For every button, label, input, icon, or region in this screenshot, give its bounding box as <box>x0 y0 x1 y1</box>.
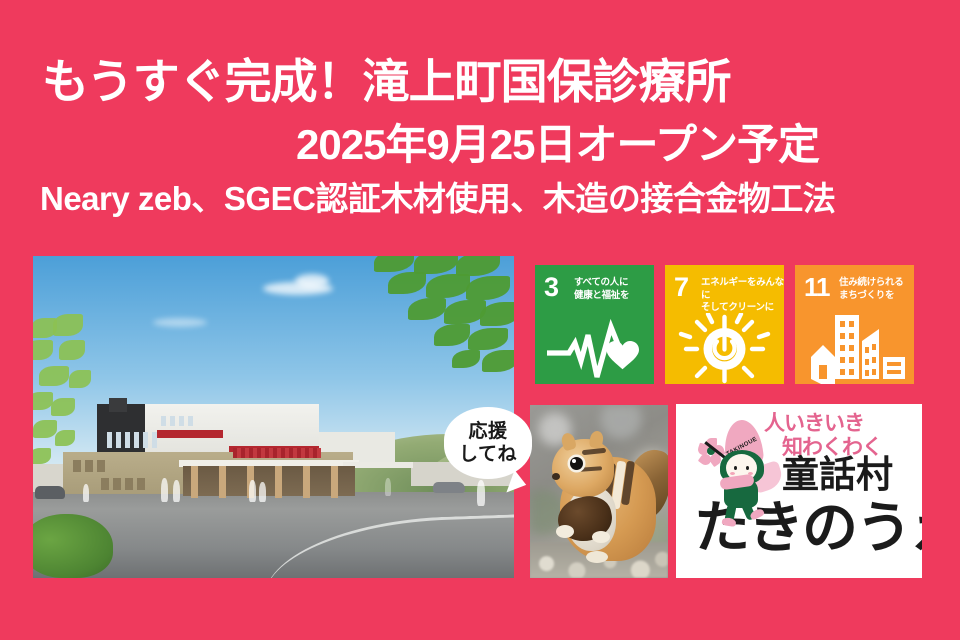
leaf-cluster <box>69 370 91 388</box>
sdg-goal-7: 7 エネルギーをみんなに そしてクリーンに <box>665 265 784 384</box>
window-pane <box>170 416 175 426</box>
person-silhouette <box>161 478 168 502</box>
sdg-label: エネルギーをみんなに そしてクリーンに <box>701 277 784 315</box>
clinic-rendering-image <box>33 256 514 578</box>
building-red-trim <box>157 430 223 438</box>
parked-car <box>35 486 65 499</box>
canopy-column <box>331 466 338 498</box>
sdg-goal-3: 3 すべての人に 健康と福祉を <box>535 265 654 384</box>
opening-date-subtitle: 2025年9月25日オープン予定 <box>296 124 819 166</box>
sdg-label: 住み続けられる まちづくりを <box>839 277 903 302</box>
window-pane <box>179 416 184 426</box>
window-pane <box>188 416 193 426</box>
leaf-cluster <box>456 256 500 276</box>
canopy-column <box>219 466 226 498</box>
person-silhouette <box>477 480 485 506</box>
leaf-cluster <box>388 272 426 294</box>
speech-bubble: 応援 してね <box>444 407 532 479</box>
parked-car <box>433 482 465 493</box>
leaf-cluster <box>466 276 510 300</box>
person-silhouette <box>173 480 180 502</box>
window-pane <box>143 432 148 448</box>
leaf-cluster <box>426 274 470 298</box>
fairy-eye <box>734 466 737 470</box>
window-pane <box>125 478 133 490</box>
leaf-cluster <box>408 298 446 320</box>
leaf-cluster <box>39 366 69 386</box>
leaf-cluster <box>434 324 470 346</box>
leaf-cluster <box>53 314 83 336</box>
leaf-cluster <box>33 420 57 438</box>
sdg-label: すべての人に 健康と福祉を <box>574 277 629 302</box>
fairy-cheek <box>730 472 735 475</box>
chipmunk-paw <box>592 531 610 543</box>
cherry-blossom-icon <box>698 438 724 464</box>
window-row <box>101 478 145 490</box>
city-buildings-icon <box>795 313 914 384</box>
sdg-icon-row: 3 すべての人に 健康と福祉を 7 エネルギーをみんなに そしてクリーンに <box>535 265 914 384</box>
takinoue-town-logo: 人いきいき 知わくわく 童話村 たきのうえ TAKINOUE <box>676 404 922 578</box>
leaf-cluster <box>55 430 75 446</box>
leaf-cluster <box>452 350 480 368</box>
chipmunk-paw <box>556 525 574 538</box>
window-pane <box>161 416 166 426</box>
chipmunk-nose <box>552 473 560 480</box>
left-tree <box>33 314 121 478</box>
fairy-mascot: TAKINOUE <box>698 420 784 524</box>
foreground-bush <box>33 514 113 578</box>
heartbeat-heart-icon <box>535 313 654 384</box>
window-pane <box>134 432 139 448</box>
window-pane <box>137 478 145 490</box>
right-tree-branch <box>330 256 514 392</box>
chipmunk-eye <box>570 457 583 470</box>
window-pane <box>152 432 157 448</box>
leaf-cluster <box>59 340 85 360</box>
leaf-cluster <box>374 256 414 272</box>
poster-canvas: もうすぐ完成！滝上町国保診療所 2025年9月25日オープン予定 Neary z… <box>0 0 960 640</box>
person-silhouette <box>249 480 256 502</box>
entrance-wood-facade <box>183 466 355 496</box>
leaf-cluster <box>51 398 75 416</box>
canopy-column <box>303 466 310 498</box>
person-silhouette <box>83 484 89 502</box>
features-subtitle: Neary zeb、SGEC認証木材使用、木造の接合金物工法 <box>40 182 835 215</box>
window-pane <box>101 478 109 490</box>
canopy-column <box>275 466 282 498</box>
sdg-number: 7 <box>674 274 689 301</box>
sun-power-icon <box>665 313 784 384</box>
sdg-number: 11 <box>804 274 830 300</box>
window-pane <box>125 432 130 448</box>
window-row <box>161 416 193 426</box>
chipmunk-foot <box>586 551 608 563</box>
canopy-column <box>191 466 198 498</box>
leaf-cluster <box>33 340 53 360</box>
person-silhouette <box>385 478 391 496</box>
cloud-shape <box>295 274 329 288</box>
entrance-roof <box>233 448 321 458</box>
leaf-cluster <box>33 392 53 410</box>
chipmunk-photo <box>530 405 668 578</box>
cloud-shape <box>153 318 207 327</box>
leaf-cluster <box>33 448 51 464</box>
fairy-eye <box>746 466 749 470</box>
person-silhouette <box>259 482 266 502</box>
page-title: もうすぐ完成！滝上町国保診療所 <box>42 58 731 105</box>
logo-middle-text: 童話村 <box>782 456 893 493</box>
leaf-cluster <box>482 350 514 372</box>
sdg-number: 3 <box>544 274 559 301</box>
sdg-goal-11: 11 住み続けられる まちづくりを <box>795 265 914 384</box>
window-pane <box>113 478 121 490</box>
speech-bubble-line1: 応援 <box>468 420 507 443</box>
speech-bubble-line2: してね <box>459 443 517 466</box>
leaf-cluster <box>468 328 508 350</box>
